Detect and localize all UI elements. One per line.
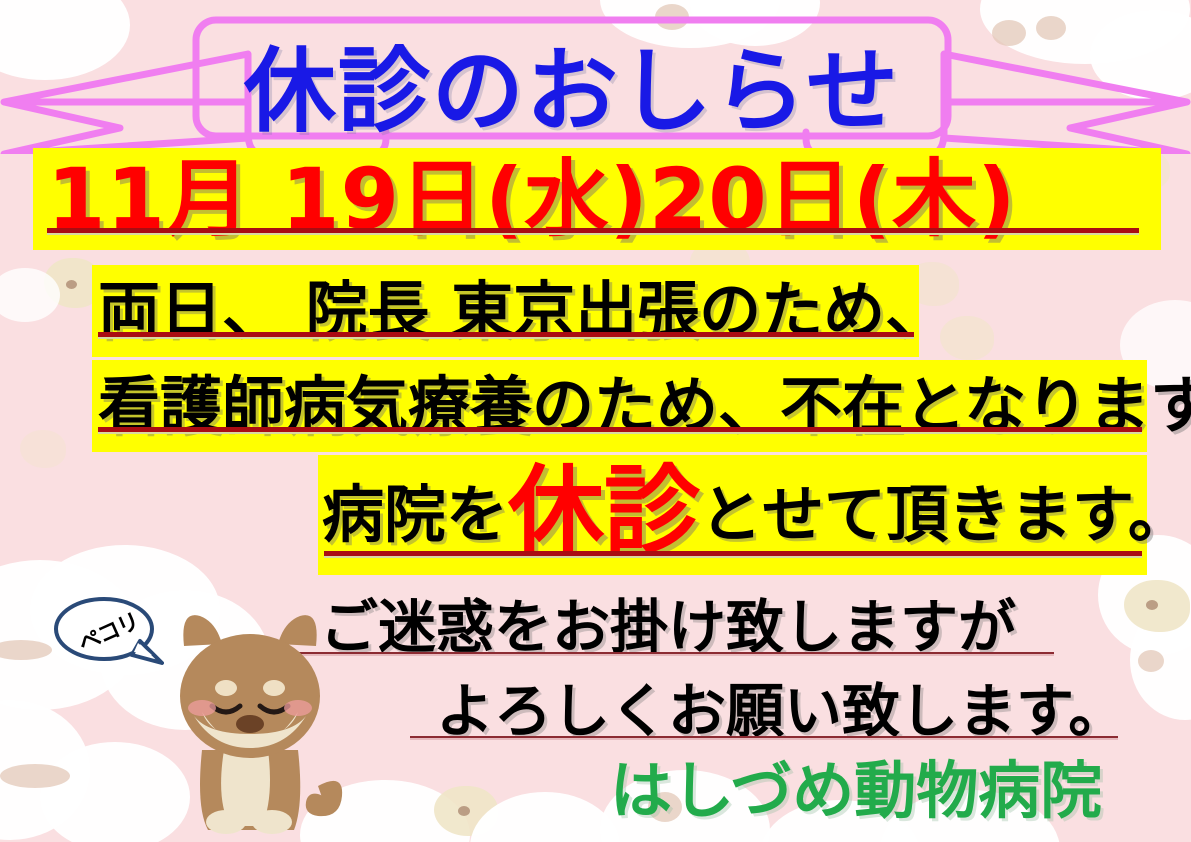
- apology-line-1: ご迷惑をお掛け致しますが: [320, 598, 1016, 656]
- reason-line-2-underline: [98, 427, 1142, 434]
- apology-line-1-underline: [294, 652, 1054, 656]
- reason-line-1: 両日、 院長 東京出張のため、: [92, 265, 919, 357]
- closure-statement-prefix: 病院を: [322, 478, 508, 551]
- speech-bubble: ペコリ: [52, 593, 164, 669]
- apology-line-2: よろしくお願い致します。: [436, 682, 1126, 740]
- reason-line-1-underline: [98, 332, 914, 339]
- shiba-dog-illustration: [150, 600, 350, 842]
- title-ribbon: 休診のおしらせ: [0, 14, 1191, 154]
- date-underline: [47, 228, 1139, 235]
- reason-line-2: 看護師病気療養のため、不在となります。: [92, 360, 1147, 452]
- closure-statement-suffix: とせて頂きます。: [700, 478, 1190, 551]
- clinic-name-signature: はしづめ動物病院: [610, 760, 1102, 822]
- apology-line-2-underline: [410, 736, 1118, 740]
- page-title: 休診のおしらせ: [196, 34, 948, 150]
- closure-statement-underline: [324, 551, 1142, 558]
- closure-notice-poster: 休診のおしらせ 11月 19日(水)20日(木) 両日、 院長 東京出張のため、…: [0, 0, 1191, 842]
- closure-statement-text: 病院を休診とせて頂きます。: [322, 463, 1190, 575]
